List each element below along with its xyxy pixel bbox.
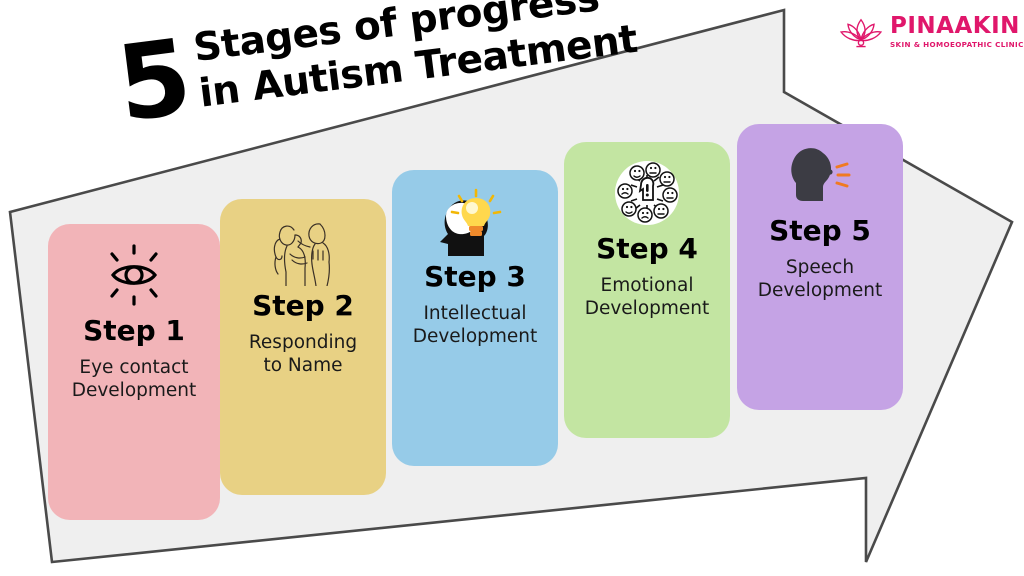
step-card-1[interactable]: Step 1 Eye contact Development <box>48 224 220 520</box>
step-desc-line-2: Development <box>413 325 538 349</box>
title-number: 5 <box>113 34 193 129</box>
mother-holding-child-icon <box>260 213 346 287</box>
step-desc-line-2: Development <box>72 379 197 403</box>
infographic-canvas: PINAAKIN SKIN & HOMOEOPATHIC CLINIC 5 St… <box>0 0 1024 576</box>
brand-logo: PINAAKIN SKIN & HOMOEOPATHIC CLINIC <box>838 8 1018 56</box>
step-label: Step 5 <box>769 216 871 247</box>
eye-with-rays-icon <box>99 238 169 312</box>
head-with-lightbulb-icon <box>432 184 518 258</box>
step-card-4[interactable]: Step 4 Emotional Development <box>564 142 730 438</box>
step-label: Step 4 <box>596 234 698 265</box>
step-card-2[interactable]: Step 2 Responding to Name <box>220 199 386 495</box>
step-label: Step 3 <box>424 262 526 293</box>
step-label: Step 1 <box>83 316 185 347</box>
logo-brand: PINAAKIN <box>890 15 1024 38</box>
logo-text: PINAAKIN SKIN & HOMOEOPATHIC CLINIC <box>890 15 1024 48</box>
step-desc-line-1: Intellectual <box>423 302 526 326</box>
step-desc-line-2: Development <box>585 297 710 321</box>
step-desc-line-1: Emotional <box>601 274 694 298</box>
step-desc-line-2: Development <box>758 279 883 303</box>
lotus-flower-icon <box>838 15 884 49</box>
step-desc-line-1: Eye contact <box>79 356 188 380</box>
step-card-5[interactable]: Step 5 Speech Development <box>737 124 903 410</box>
step-card-3[interactable]: Step 3 Intellectual Development <box>392 170 558 466</box>
step-desc-line-1: Speech <box>786 256 854 280</box>
step-desc-line-2: to Name <box>263 354 342 378</box>
speaking-head-icon <box>779 138 861 212</box>
logo-tagline: SKIN & HOMOEOPATHIC CLINIC <box>890 41 1024 48</box>
emotion-faces-circle-icon <box>607 156 687 230</box>
step-label: Step 2 <box>252 291 354 322</box>
step-desc-line-1: Responding <box>249 331 357 355</box>
